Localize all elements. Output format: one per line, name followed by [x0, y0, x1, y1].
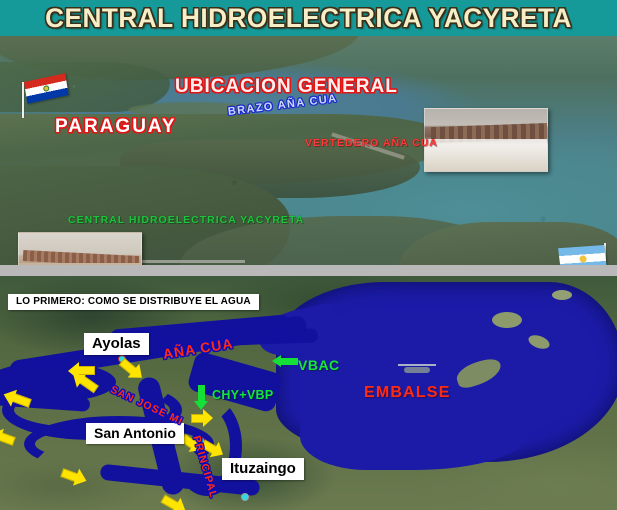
- arrow-head: [203, 409, 213, 427]
- label-vertedero-ana-cua: VERTEDERO AÑA CUA: [305, 137, 438, 149]
- paraguay-flag-cloth: [24, 73, 69, 103]
- label-vbac: VBAC: [298, 357, 340, 373]
- label-paraguay: PARAGUAY: [55, 116, 177, 138]
- arrow-head: [194, 401, 208, 410]
- arrow-head: [272, 355, 281, 367]
- page-title: CENTRAL HIDROELECTRICA YACYRETA: [45, 3, 572, 34]
- label-san-antonio: San Antonio: [86, 423, 184, 444]
- powerhouse-photo: [18, 232, 142, 265]
- top-satellite-panel: UBICACION GENERAL PARAGUAY BRAZO AÑA CUA…: [0, 36, 617, 265]
- caption-lo-primero: LO PRIMERO: COMO SE DISTRIBUYE EL AGUA: [8, 294, 259, 310]
- arrow-shaft: [198, 385, 205, 402]
- label-chy-vbp: CHY+VBP: [212, 388, 274, 402]
- helicopter-silhouette: [404, 367, 430, 373]
- spillway-photo: [424, 108, 548, 172]
- ubicacion-general-heading: UBICACION GENERAL: [175, 76, 398, 98]
- reservoir-island: [492, 312, 522, 328]
- label-embalse: EMBALSE: [364, 384, 451, 402]
- paraguay-flag: [20, 78, 68, 118]
- slide-title-bar: CENTRAL HIDROELECTRICA YACYRETA: [0, 0, 617, 36]
- arrow-shaft: [280, 358, 298, 365]
- panel-separator: [0, 265, 617, 276]
- reservoir-island: [552, 290, 572, 300]
- argentina-flag-cloth: [558, 245, 607, 265]
- label-ituzaingo: Ituzaingo: [222, 458, 304, 480]
- arrow-head: [68, 362, 79, 380]
- label-ayolas: Ayolas: [84, 333, 149, 355]
- arrow-shaft: [77, 366, 95, 375]
- argentina-flag-sun: [579, 255, 587, 262]
- spillway-foam: [425, 139, 548, 172]
- label-central-hidroelectrica-yacyreta: CENTRAL HIDROELECTRICA YACYRETA: [68, 214, 304, 226]
- ituzaingo-marker: [241, 493, 249, 501]
- slide-root: CENTRAL HIDROELECTRICA YACYRETA: [0, 0, 617, 510]
- argentina-flag: [552, 241, 608, 265]
- paraguay-flag-emblem: [43, 85, 50, 92]
- flag-pole: [22, 82, 24, 118]
